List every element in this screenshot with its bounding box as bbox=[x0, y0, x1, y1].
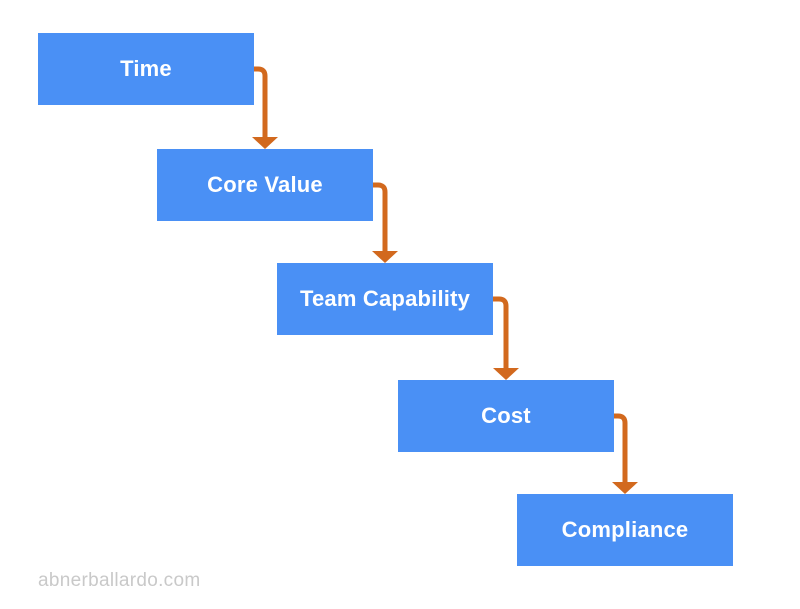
node-label-compliance: Compliance bbox=[562, 519, 689, 541]
edge-cost-compliance-line bbox=[614, 416, 625, 482]
edge-time-core-value-arrowhead-icon bbox=[252, 137, 278, 149]
node-label-core-value: Core Value bbox=[207, 174, 323, 196]
diagram-canvas: Time Core Value Team Capability Cost Com… bbox=[0, 0, 800, 609]
edge-core-value-team-capability-line bbox=[373, 185, 385, 251]
node-label-time: Time bbox=[120, 58, 172, 80]
edge-time-core-value-line bbox=[254, 69, 265, 137]
edge-team-capability-cost-line bbox=[493, 299, 506, 368]
watermark: abnerballardo.com bbox=[38, 570, 200, 592]
node-compliance[interactable]: Compliance bbox=[517, 494, 733, 566]
node-cost[interactable]: Cost bbox=[398, 380, 614, 452]
node-time[interactable]: Time bbox=[38, 33, 254, 105]
node-core-value[interactable]: Core Value bbox=[157, 149, 373, 221]
node-label-cost: Cost bbox=[481, 405, 531, 427]
edge-team-capability-cost-arrowhead-icon bbox=[493, 368, 519, 380]
node-team-capability[interactable]: Team Capability bbox=[277, 263, 493, 335]
node-label-team-capability: Team Capability bbox=[300, 288, 470, 310]
edge-cost-compliance-arrowhead-icon bbox=[612, 482, 638, 494]
edge-core-value-team-capability-arrowhead-icon bbox=[372, 251, 398, 263]
